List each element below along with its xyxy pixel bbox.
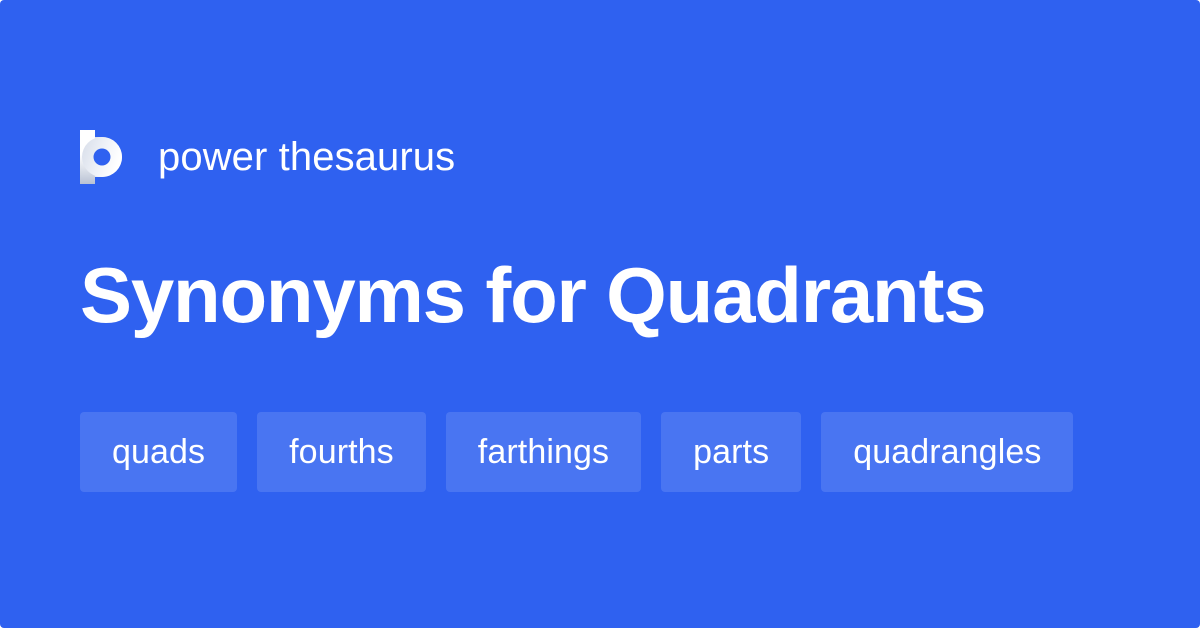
brand-name: power thesaurus <box>158 137 455 177</box>
og-card: power thesaurus Synonyms for Quadrants q… <box>0 0 1200 628</box>
power-thesaurus-b-mark-icon <box>80 130 126 184</box>
synonym-chip[interactable]: quads <box>80 412 237 492</box>
synonym-chip[interactable]: farthings <box>446 412 641 492</box>
synonym-chip-list: quads fourths farthings parts quadrangle… <box>80 412 1073 492</box>
synonym-chip[interactable]: fourths <box>257 412 426 492</box>
page-title: Synonyms for Quadrants <box>80 249 985 341</box>
synonym-chip[interactable]: parts <box>661 412 801 492</box>
synonym-chip[interactable]: quadrangles <box>821 412 1073 492</box>
brand-lockup[interactable]: power thesaurus <box>80 126 455 188</box>
